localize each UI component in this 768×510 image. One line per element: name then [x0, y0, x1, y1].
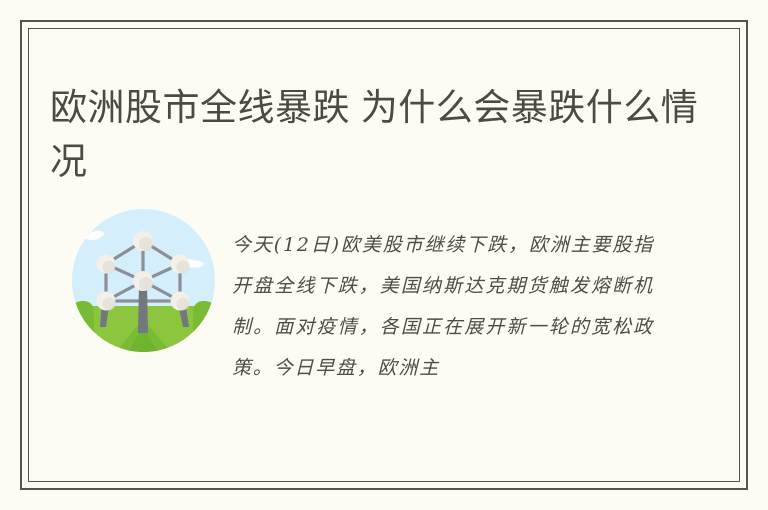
- article-body-text: 今天(12日)欧美股市继续下跌，欧洲主要股指开盘全线下跌，美国纳斯达克期货触发熔…: [232, 225, 654, 473]
- atomium-landmark-illustration: [72, 209, 215, 352]
- atomium-illustration-svg: [72, 209, 215, 352]
- article-card: 欧洲股市全线暴跌 为什么会暴跌什么情况: [0, 0, 768, 510]
- article-headline: 欧洲股市全线暴跌 为什么会暴跌什么情况: [50, 81, 710, 189]
